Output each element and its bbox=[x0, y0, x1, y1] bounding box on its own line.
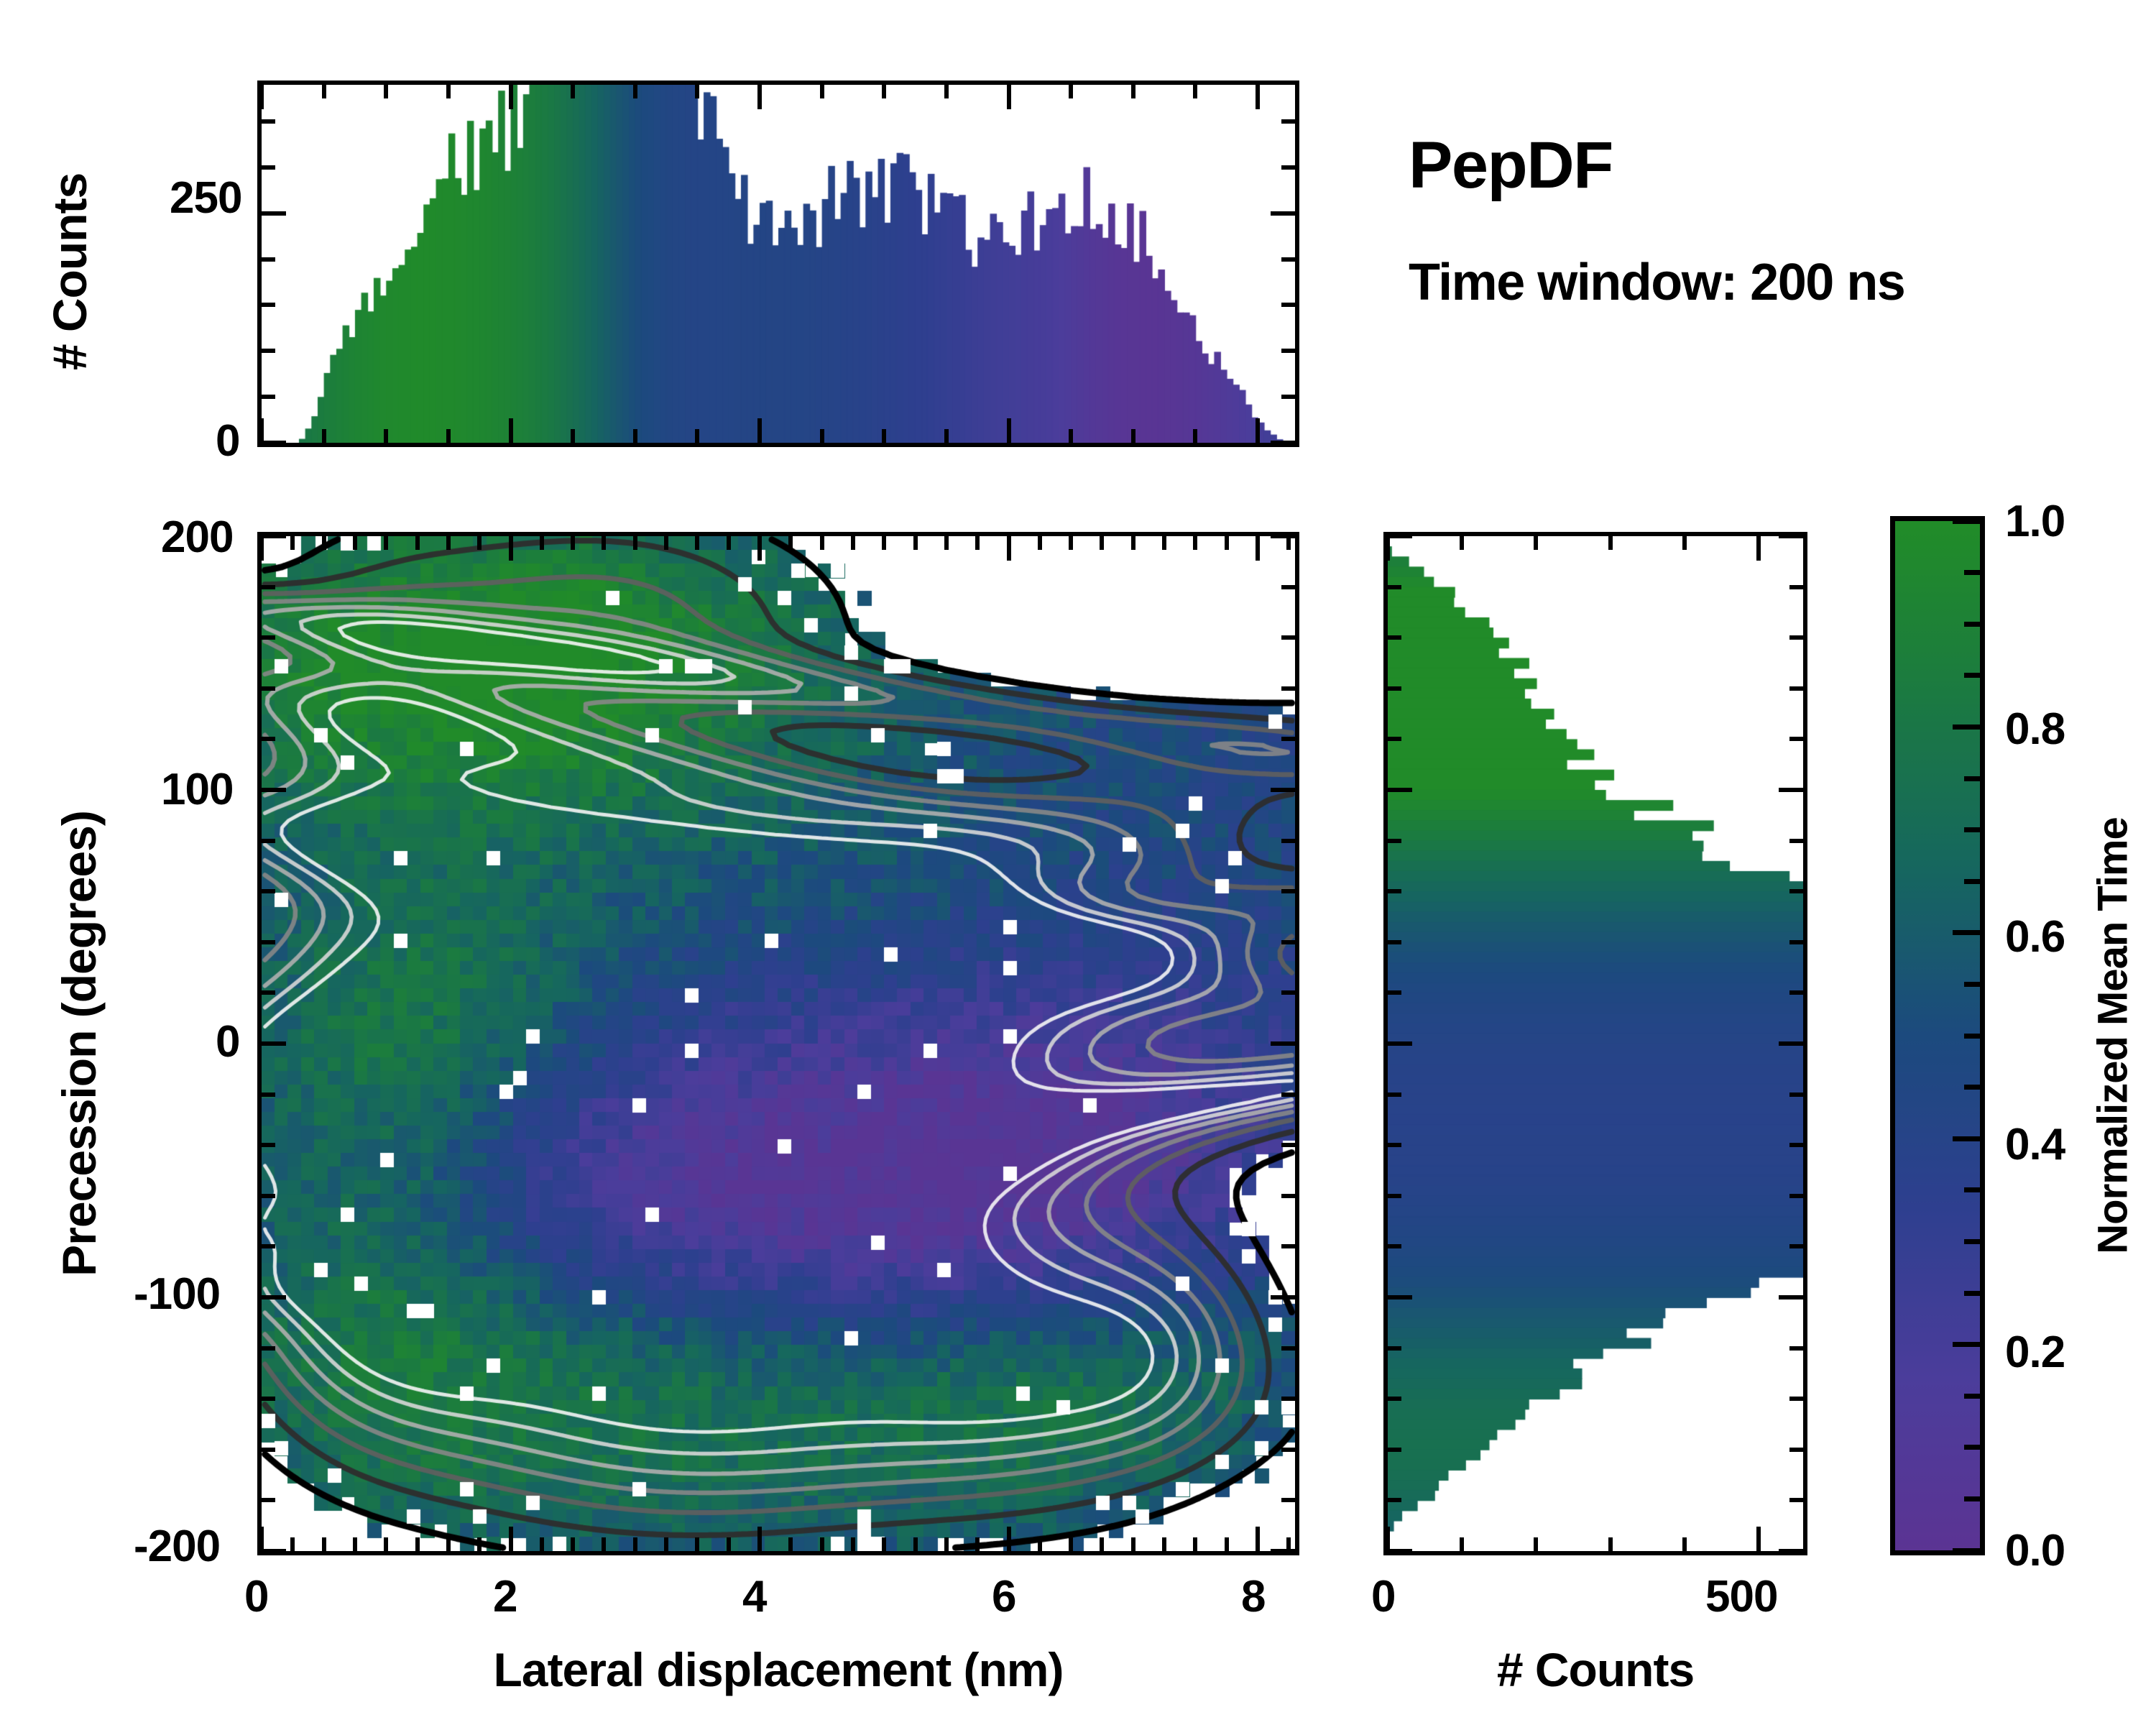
tick-mark bbox=[1069, 1537, 1073, 1551]
tick-mark bbox=[1281, 635, 1295, 640]
tick-mark bbox=[509, 536, 513, 561]
plot-subtitle: Time window: 200 ns bbox=[1409, 253, 1904, 312]
tick-mark bbox=[1388, 889, 1401, 893]
tick-mark bbox=[1281, 990, 1295, 995]
tick-mark bbox=[1388, 788, 1412, 792]
tick-mark bbox=[1388, 585, 1401, 589]
tick-mark bbox=[262, 737, 275, 741]
tick-mark bbox=[820, 85, 824, 98]
tick-mark bbox=[571, 429, 575, 443]
tick-mark bbox=[1789, 585, 1803, 589]
tick-mark bbox=[1388, 1549, 1412, 1553]
tick-mark bbox=[695, 429, 699, 443]
tick-mark bbox=[757, 418, 762, 443]
tick-mark bbox=[571, 1537, 575, 1551]
tick-mark bbox=[1281, 349, 1295, 353]
tick-mark bbox=[262, 441, 286, 445]
main-ytick-100: 100 bbox=[161, 764, 233, 815]
top-marginal-histogram-axes bbox=[257, 80, 1299, 447]
tick-mark bbox=[695, 1537, 699, 1551]
tick-mark bbox=[262, 119, 275, 124]
tick-mark bbox=[1964, 1085, 1980, 1090]
tick-mark bbox=[446, 429, 451, 443]
tick-mark bbox=[727, 536, 731, 550]
tick-mark bbox=[882, 536, 886, 550]
tick-mark bbox=[1388, 1448, 1401, 1452]
tick-mark bbox=[259, 1527, 264, 1551]
tick-mark bbox=[1964, 1291, 1980, 1296]
tick-mark bbox=[1069, 536, 1073, 550]
tick-mark bbox=[262, 1244, 275, 1248]
tick-mark bbox=[571, 85, 575, 98]
tick-mark bbox=[1388, 1041, 1412, 1046]
tick-mark bbox=[1271, 788, 1295, 792]
tick-mark bbox=[1100, 536, 1104, 550]
tick-mark bbox=[1388, 1498, 1401, 1502]
colorbar-tick-0-4: 0.4 bbox=[2005, 1119, 2065, 1170]
tick-mark bbox=[262, 788, 286, 792]
tick-mark bbox=[262, 990, 275, 995]
tick-mark bbox=[1281, 737, 1295, 741]
tick-mark bbox=[1964, 1239, 1980, 1244]
tick-mark bbox=[1271, 1295, 1295, 1299]
colorbar-tick-1-0: 1.0 bbox=[2005, 496, 2065, 547]
top-hist-ylabel: # Counts bbox=[42, 173, 97, 370]
tick-mark bbox=[1256, 418, 1260, 443]
tick-mark bbox=[882, 1537, 886, 1551]
tick-mark bbox=[262, 1397, 275, 1401]
right-hist-xtick-500: 500 bbox=[1705, 1571, 1777, 1622]
tick-mark bbox=[820, 1537, 824, 1551]
tick-mark bbox=[1608, 1537, 1613, 1551]
tick-mark bbox=[1789, 1346, 1803, 1351]
tick-mark bbox=[1779, 1549, 1803, 1553]
tick-mark bbox=[1388, 1397, 1401, 1401]
right-hist-xtick-0: 0 bbox=[1371, 1571, 1395, 1622]
tick-mark bbox=[1964, 570, 1980, 575]
tick-mark bbox=[509, 1527, 513, 1551]
tick-mark bbox=[1789, 1244, 1803, 1248]
tick-mark bbox=[1281, 889, 1295, 893]
tick-mark bbox=[262, 839, 275, 843]
tick-mark bbox=[1386, 536, 1390, 561]
tick-mark bbox=[1964, 1187, 1980, 1192]
tick-mark bbox=[633, 536, 637, 550]
tick-mark bbox=[1953, 930, 1980, 935]
main-ytick-200: 200 bbox=[161, 512, 233, 563]
tick-mark bbox=[1953, 1548, 1980, 1553]
tick-mark bbox=[851, 536, 855, 550]
tick-mark bbox=[1131, 536, 1135, 550]
tick-mark bbox=[1964, 1394, 1980, 1399]
tick-mark bbox=[415, 536, 420, 550]
tick-mark bbox=[1007, 536, 1011, 561]
tick-mark bbox=[322, 85, 326, 98]
tick-mark bbox=[1388, 737, 1401, 741]
tick-mark bbox=[913, 1537, 918, 1551]
tick-mark bbox=[1964, 1496, 1980, 1501]
tick-mark bbox=[1281, 1143, 1295, 1147]
tick-mark bbox=[1388, 635, 1401, 640]
tick-mark bbox=[1281, 1092, 1295, 1097]
tick-mark bbox=[1756, 536, 1761, 561]
tick-mark bbox=[353, 1537, 357, 1551]
tick-mark bbox=[1608, 536, 1613, 550]
tick-mark bbox=[602, 536, 606, 550]
tick-mark bbox=[1069, 85, 1073, 98]
tick-mark bbox=[290, 536, 295, 550]
tick-mark bbox=[1789, 635, 1803, 640]
tick-mark bbox=[944, 429, 949, 443]
tick-mark bbox=[1286, 1537, 1291, 1551]
main-ytick-m100: -100 bbox=[134, 1269, 220, 1320]
tick-mark bbox=[1271, 1549, 1295, 1553]
tick-mark bbox=[477, 1537, 482, 1551]
main-xtick-6: 6 bbox=[992, 1571, 1015, 1622]
tick-mark bbox=[540, 536, 544, 550]
tick-mark bbox=[1964, 879, 1980, 884]
colorbar-tick-0-2: 0.2 bbox=[2005, 1327, 2065, 1378]
tick-mark bbox=[477, 536, 482, 550]
tick-mark bbox=[1953, 1136, 1980, 1141]
tick-mark bbox=[1789, 686, 1803, 691]
tick-mark bbox=[975, 536, 980, 550]
tick-mark bbox=[1281, 1244, 1295, 1248]
tick-mark bbox=[757, 1527, 762, 1551]
tick-mark bbox=[1388, 1143, 1401, 1147]
tick-mark bbox=[1789, 737, 1803, 741]
tick-mark bbox=[259, 85, 264, 109]
tick-mark bbox=[415, 1537, 420, 1551]
tick-mark bbox=[1789, 1143, 1803, 1147]
tick-mark bbox=[1225, 1537, 1229, 1551]
tick-mark bbox=[1281, 1397, 1295, 1401]
tick-mark bbox=[944, 1537, 949, 1551]
tick-mark bbox=[571, 536, 575, 550]
tick-mark bbox=[509, 85, 513, 109]
colorbar-tick-0-6: 0.6 bbox=[2005, 911, 2065, 962]
tick-mark bbox=[1779, 788, 1803, 792]
tick-mark bbox=[1131, 1537, 1135, 1551]
tick-mark bbox=[1193, 429, 1197, 443]
tick-mark bbox=[1388, 839, 1401, 843]
tick-mark bbox=[290, 1537, 295, 1551]
tick-mark bbox=[1286, 536, 1291, 550]
right-hist-xlabel: # Counts bbox=[1497, 1642, 1694, 1697]
tick-mark bbox=[1388, 1244, 1401, 1248]
main-ylabel: Precession (degrees) bbox=[52, 811, 106, 1276]
tick-mark bbox=[1779, 1295, 1803, 1299]
tick-mark bbox=[757, 536, 762, 561]
tick-mark bbox=[1162, 536, 1166, 550]
tick-mark bbox=[262, 1448, 275, 1452]
tick-mark bbox=[1281, 303, 1295, 307]
tick-mark bbox=[262, 1041, 286, 1046]
tick-mark bbox=[1193, 536, 1197, 550]
tick-mark bbox=[1964, 1034, 1980, 1039]
tick-mark bbox=[446, 1537, 451, 1551]
colorbar-tick-0-0: 0.0 bbox=[2005, 1525, 2065, 1576]
tick-mark bbox=[1256, 536, 1260, 561]
tick-mark bbox=[262, 349, 275, 353]
tick-mark bbox=[1007, 1527, 1011, 1551]
tick-mark bbox=[851, 1537, 855, 1551]
colorbar-label: Normalized Mean Time bbox=[2089, 817, 2137, 1253]
tick-mark bbox=[1388, 1194, 1401, 1198]
tick-mark bbox=[1789, 1092, 1803, 1097]
tick-mark bbox=[1131, 85, 1135, 98]
tick-mark bbox=[1038, 1537, 1042, 1551]
tick-mark bbox=[664, 536, 668, 550]
tick-mark bbox=[262, 635, 275, 640]
tick-mark bbox=[1386, 1527, 1390, 1551]
tick-mark bbox=[259, 536, 264, 561]
tick-mark bbox=[882, 429, 886, 443]
tick-mark bbox=[322, 429, 326, 443]
tick-mark bbox=[1256, 1527, 1260, 1551]
tick-mark bbox=[882, 85, 886, 98]
tick-mark bbox=[1534, 536, 1538, 550]
tick-mark bbox=[1038, 536, 1042, 550]
tick-mark bbox=[633, 85, 637, 98]
tick-mark bbox=[1281, 585, 1295, 589]
tick-mark bbox=[1281, 257, 1295, 262]
tick-mark bbox=[1789, 990, 1803, 995]
tick-mark bbox=[262, 211, 286, 216]
tick-mark bbox=[262, 686, 275, 691]
tick-mark bbox=[1281, 940, 1295, 944]
colorbar-tick-0-8: 0.8 bbox=[2005, 704, 2065, 755]
tick-mark bbox=[1388, 1092, 1401, 1097]
tick-mark bbox=[384, 429, 388, 443]
main-xtick-2: 2 bbox=[493, 1571, 517, 1622]
tick-mark bbox=[1388, 1295, 1412, 1299]
tick-mark bbox=[820, 429, 824, 443]
tick-mark bbox=[1953, 1342, 1980, 1347]
tick-mark bbox=[1953, 519, 1980, 524]
tick-mark bbox=[1256, 85, 1260, 109]
top-hist-ytick-0: 0 bbox=[216, 415, 239, 466]
tick-mark bbox=[820, 536, 824, 550]
right-marginal-histogram-axes bbox=[1383, 532, 1807, 1555]
main-xtick-4: 4 bbox=[742, 1571, 766, 1622]
tick-mark bbox=[384, 85, 388, 98]
tick-mark bbox=[262, 1549, 286, 1553]
tick-mark bbox=[1271, 441, 1295, 445]
tick-mark bbox=[633, 1537, 637, 1551]
tick-mark bbox=[1281, 839, 1295, 843]
main-heatmap-axes bbox=[257, 532, 1299, 1555]
tick-mark bbox=[913, 536, 918, 550]
tick-mark bbox=[1069, 429, 1073, 443]
tick-mark bbox=[262, 1346, 275, 1351]
tick-mark bbox=[384, 536, 388, 550]
tick-mark bbox=[1007, 85, 1011, 109]
tick-mark bbox=[262, 257, 275, 262]
tick-mark bbox=[1534, 1537, 1538, 1551]
tick-mark bbox=[262, 940, 275, 944]
tick-mark bbox=[757, 85, 762, 109]
tick-mark bbox=[727, 1537, 731, 1551]
tick-mark bbox=[259, 418, 264, 443]
tick-mark bbox=[944, 536, 949, 550]
tick-mark bbox=[262, 165, 275, 170]
tick-mark bbox=[695, 536, 699, 550]
tick-mark bbox=[262, 303, 275, 307]
tick-mark bbox=[1271, 534, 1295, 538]
top-hist-ytick-250: 250 bbox=[170, 172, 241, 224]
tick-mark bbox=[664, 1537, 668, 1551]
tick-mark bbox=[1388, 686, 1401, 691]
tick-mark bbox=[446, 536, 451, 550]
tick-mark bbox=[633, 429, 637, 443]
tick-mark bbox=[1281, 1194, 1295, 1198]
tick-mark bbox=[788, 1537, 793, 1551]
tick-mark bbox=[353, 536, 357, 550]
main-xlabel: Lateral displacement (nm) bbox=[494, 1642, 1064, 1697]
tick-mark bbox=[1789, 889, 1803, 893]
tick-mark bbox=[1789, 839, 1803, 843]
tick-mark bbox=[1682, 536, 1687, 550]
tick-mark bbox=[1388, 940, 1401, 944]
tick-mark bbox=[1100, 1537, 1104, 1551]
tick-mark bbox=[1193, 1537, 1197, 1551]
tick-mark bbox=[1271, 1041, 1295, 1046]
tick-mark bbox=[262, 1498, 275, 1502]
tick-mark bbox=[262, 585, 275, 589]
main-ytick-0: 0 bbox=[216, 1016, 239, 1067]
tick-mark bbox=[1789, 940, 1803, 944]
tick-mark bbox=[1281, 1346, 1295, 1351]
tick-mark bbox=[1388, 990, 1401, 995]
tick-mark bbox=[1953, 724, 1980, 730]
tick-mark bbox=[262, 1143, 275, 1147]
tick-mark bbox=[1789, 1194, 1803, 1198]
tick-mark bbox=[1460, 1537, 1464, 1551]
tick-mark bbox=[1964, 1445, 1980, 1450]
tick-mark bbox=[1193, 85, 1197, 98]
tick-mark bbox=[1682, 1537, 1687, 1551]
tick-mark bbox=[1225, 536, 1229, 550]
tick-mark bbox=[1779, 1041, 1803, 1046]
tick-mark bbox=[384, 1537, 388, 1551]
tick-mark bbox=[1281, 686, 1295, 691]
tick-mark bbox=[1964, 673, 1980, 678]
tick-mark bbox=[262, 889, 275, 893]
tick-mark bbox=[540, 1537, 544, 1551]
tick-mark bbox=[322, 536, 326, 550]
tick-mark bbox=[262, 395, 275, 399]
tick-mark bbox=[1789, 1498, 1803, 1502]
tick-mark bbox=[1281, 165, 1295, 170]
tick-mark bbox=[262, 1295, 286, 1299]
tick-mark bbox=[1789, 1448, 1803, 1452]
tick-mark bbox=[1281, 1498, 1295, 1502]
tick-mark bbox=[1964, 827, 1980, 832]
tick-mark bbox=[1281, 395, 1295, 399]
main-xtick-8: 8 bbox=[1241, 1571, 1265, 1622]
tick-mark bbox=[1388, 1346, 1401, 1351]
tick-mark bbox=[1460, 536, 1464, 550]
plot-title: PepDF bbox=[1409, 128, 1613, 203]
tick-mark bbox=[1131, 429, 1135, 443]
tick-mark bbox=[1964, 622, 1980, 627]
main-xtick-0: 0 bbox=[244, 1571, 268, 1622]
tick-mark bbox=[262, 534, 286, 538]
tick-mark bbox=[1162, 1537, 1166, 1551]
tick-mark bbox=[602, 1537, 606, 1551]
main-ytick-m200: -200 bbox=[134, 1521, 220, 1572]
tick-mark bbox=[1779, 534, 1803, 538]
tick-mark bbox=[1007, 418, 1011, 443]
tick-mark bbox=[446, 85, 451, 98]
tick-mark bbox=[788, 536, 793, 550]
tick-mark bbox=[262, 1194, 275, 1198]
tick-mark bbox=[1271, 211, 1295, 216]
tick-mark bbox=[1964, 982, 1980, 987]
tick-mark bbox=[1281, 1448, 1295, 1452]
tick-mark bbox=[509, 418, 513, 443]
tick-mark bbox=[695, 85, 699, 98]
tick-mark bbox=[1281, 119, 1295, 124]
tick-mark bbox=[1789, 1397, 1803, 1401]
tick-mark bbox=[322, 1537, 326, 1551]
tick-mark bbox=[1388, 534, 1412, 538]
figure-root: 250 0 # Counts PepDF Time window: 200 ns… bbox=[0, 0, 2156, 1725]
tick-mark bbox=[1964, 776, 1980, 781]
tick-mark bbox=[975, 1537, 980, 1551]
tick-mark bbox=[1756, 1527, 1761, 1551]
tick-mark bbox=[262, 1092, 275, 1097]
tick-mark bbox=[944, 85, 949, 98]
